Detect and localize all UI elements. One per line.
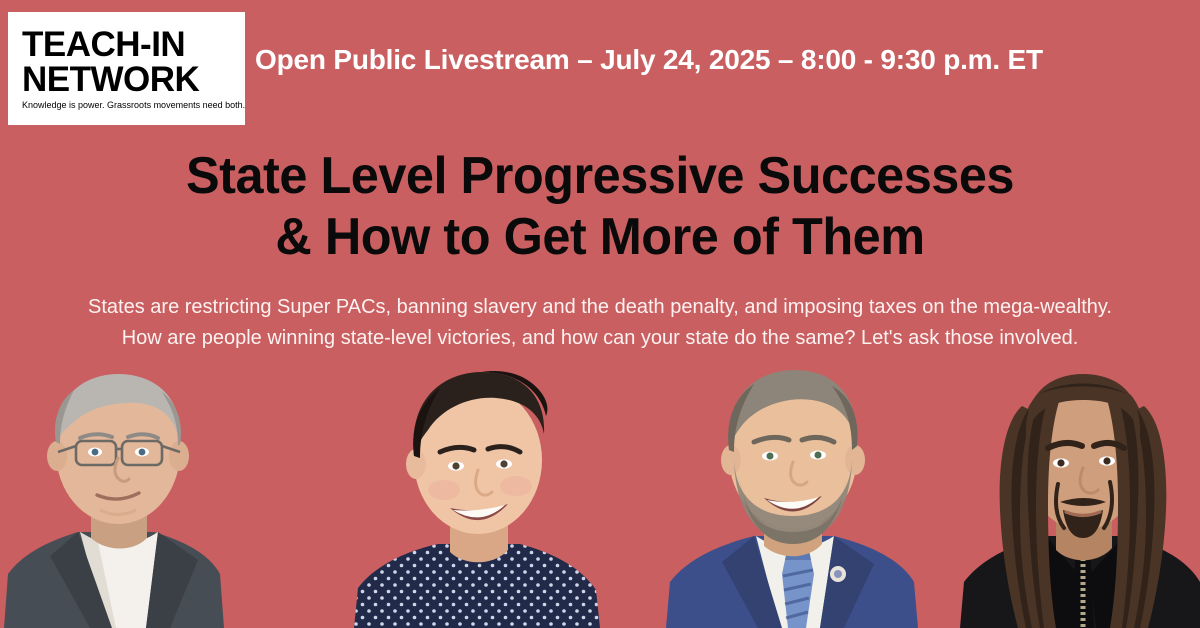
speaker-photo-1	[0, 360, 246, 628]
logo-line-1: TEACH-IN	[22, 28, 245, 62]
event-promo-poster: TEACH-IN NETWORK Knowledge is power. Gra…	[0, 0, 1200, 628]
logo-text: TEACH-IN NETWORK Knowledge is power. Gra…	[14, 12, 245, 125]
event-description-line-1: States are restricting Super PACs, banni…	[0, 292, 1200, 323]
livestream-header: Open Public Livestream – July 24, 2025 –…	[255, 44, 1155, 76]
speaker-1-portrait-image	[0, 360, 246, 628]
teach-in-network-logo: TEACH-IN NETWORK Knowledge is power. Gra…	[8, 12, 245, 125]
speaker-photo-2	[352, 360, 602, 628]
page-title: State Level Progressive Successes & How …	[18, 146, 1182, 269]
speaker-portrait-row	[0, 360, 1200, 628]
event-description: States are restricting Super PACs, banni…	[0, 292, 1200, 354]
logo-tagline: Knowledge is power. Grassroots movements…	[22, 101, 245, 111]
page-title-line-1: State Level Progressive Successes	[18, 146, 1182, 207]
speaker-2-portrait-image	[352, 360, 602, 628]
speaker-photo-3	[662, 360, 922, 628]
event-description-line-2: How are people winning state-level victo…	[0, 323, 1200, 354]
page-title-line-2: & How to Get More of Them	[18, 207, 1182, 268]
logo-line-2: NETWORK	[22, 63, 245, 97]
speaker-3-portrait-image	[662, 360, 922, 628]
speaker-4-portrait-image	[960, 360, 1200, 628]
speaker-photo-4	[960, 360, 1200, 628]
